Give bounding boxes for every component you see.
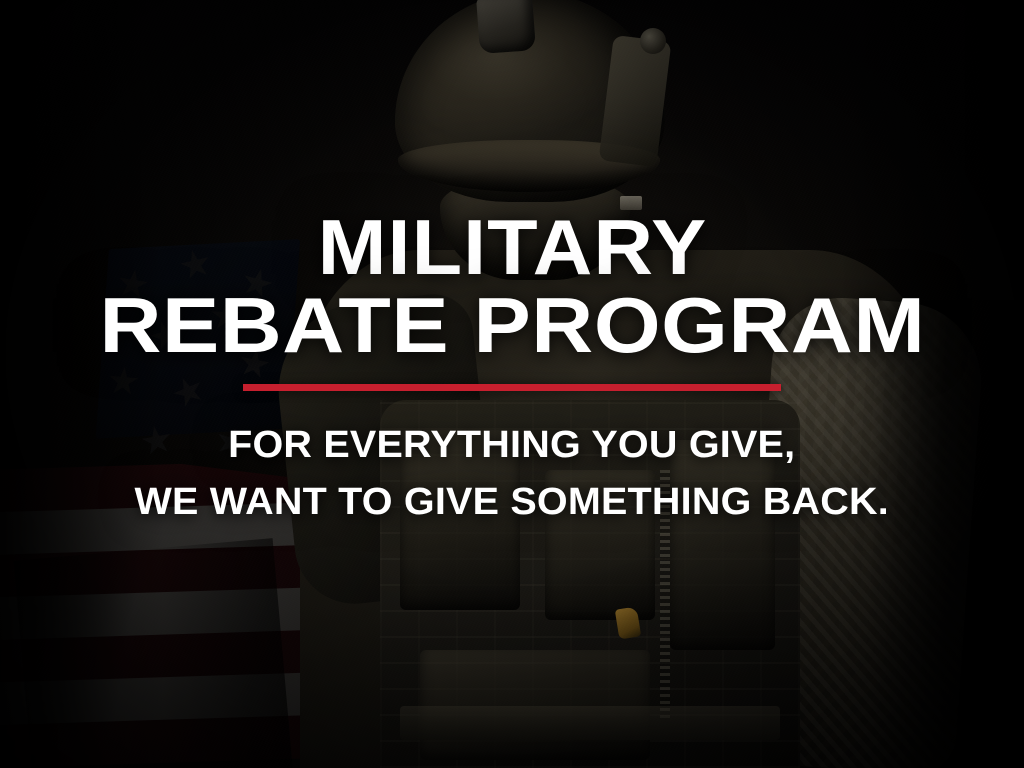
headline-line-2: REBATE PROGRAM: [99, 290, 925, 362]
red-accent-rule: [243, 384, 781, 391]
subheadline-line-1: FOR EVERYTHING YOU GIVE,: [135, 423, 889, 469]
subheadline-line-2: WE WANT TO GIVE SOMETHING BACK.: [135, 480, 889, 526]
military-rebate-poster: MILITARY REBATE PROGRAM FOR EVERYTHING Y…: [0, 0, 1024, 768]
headline-line-1: MILITARY: [114, 212, 910, 284]
text-overlay: MILITARY REBATE PROGRAM FOR EVERYTHING Y…: [0, 0, 1024, 768]
divider-container: [0, 384, 1024, 391]
page-title: MILITARY REBATE PROGRAM: [137, 212, 888, 362]
subheadline: FOR EVERYTHING YOU GIVE, WE WANT TO GIVE…: [149, 423, 874, 526]
